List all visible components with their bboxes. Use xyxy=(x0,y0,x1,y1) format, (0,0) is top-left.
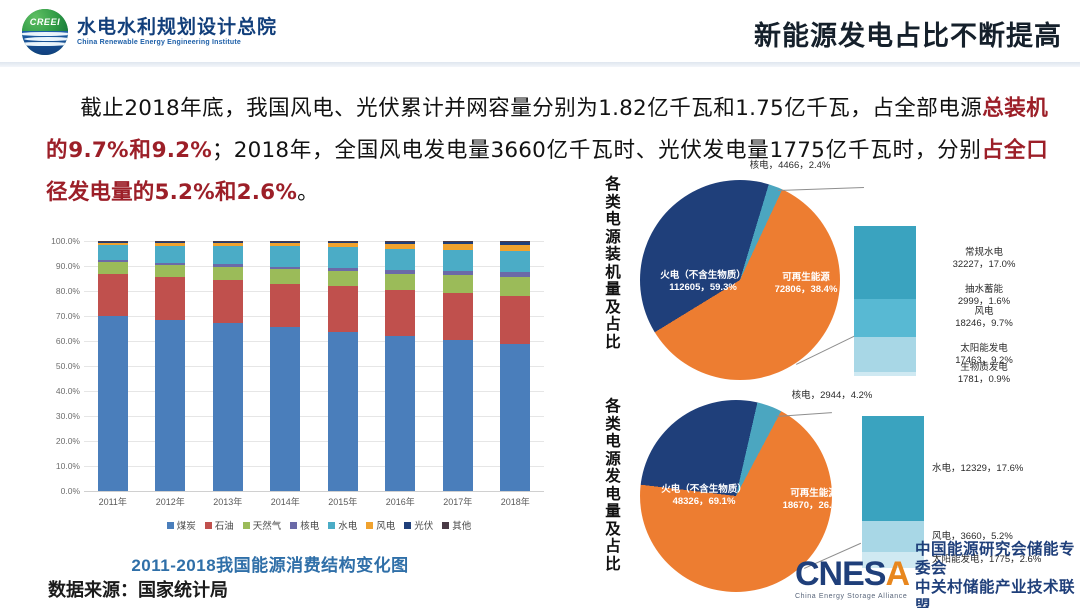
pie-slice-label-火电（不含生物质）: 火电（不含生物质）48326，69.1% xyxy=(644,484,764,508)
legend-swatch-icon xyxy=(404,522,411,529)
bar-segment-天然气 xyxy=(155,265,185,277)
breakout-segment-常规水电 xyxy=(854,226,916,294)
legend-label: 风电 xyxy=(376,518,395,532)
x-axis-tick-label: 2011年 xyxy=(91,495,135,511)
legend-label: 石油 xyxy=(215,518,234,532)
legend-label: 光伏 xyxy=(414,518,433,532)
pie-slice-label-可再生能源: 可再生能源18670，26.7% xyxy=(768,488,860,512)
bar-column[interactable] xyxy=(213,241,243,491)
y-axis-tick-label: 0.0% xyxy=(24,486,80,496)
bar-segment-煤炭 xyxy=(213,323,243,492)
cnesa-cn-block: 中国能源研究会储能专委会 中关村储能产业技术联盟 xyxy=(915,540,1080,608)
x-axis-tick-label: 2014年 xyxy=(263,495,307,511)
cnesa-logo: CNESA China Energy Storage Alliance xyxy=(795,557,909,600)
bar-segment-天然气 xyxy=(98,262,128,274)
x-axis-tick-label: 2012年 xyxy=(148,495,192,511)
breakout-segment-生物质发电 xyxy=(854,372,916,378)
bar-segment-水电 xyxy=(270,246,300,266)
legend-item-天然气[interactable]: 天然气 xyxy=(243,518,282,532)
x-axis-tick-label: 2013年 xyxy=(206,495,250,511)
breakout-label-常规水电: 常规水电32227，17.0% xyxy=(924,247,1044,271)
bar-segment-石油 xyxy=(213,280,243,323)
cnesa-cn-line-2: 中关村储能产业技术联盟 xyxy=(915,578,1080,608)
institute-name-cn: 水电水利规划设计总院 xyxy=(77,18,277,38)
pie-slice-label-可再生能源: 可再生能源72806，38.4% xyxy=(760,272,852,296)
x-axis-tick-label: 2018年 xyxy=(493,495,537,511)
bar-segment-水电 xyxy=(500,251,530,272)
breakout-box: 常规水电32227，17.0%抽水蓄能2999，1.6%风电18246，9.7%… xyxy=(854,226,916,376)
bar-column[interactable] xyxy=(385,241,415,491)
bar-segment-天然气 xyxy=(385,274,415,290)
bar-chart-plot xyxy=(84,241,544,491)
bar-segment-天然气 xyxy=(443,275,473,293)
x-axis-tick-label: 2017年 xyxy=(436,495,480,511)
y-axis-tick-label: 90.0% xyxy=(24,261,80,271)
y-axis-tick-label: 100.0% xyxy=(24,236,80,246)
legend-item-光伏[interactable]: 光伏 xyxy=(404,518,433,532)
legend-swatch-icon xyxy=(290,522,297,529)
bar-segment-煤炭 xyxy=(328,332,358,491)
legend-label: 煤炭 xyxy=(177,518,196,532)
cnesa-subtitle-en: China Energy Storage Alliance xyxy=(795,593,909,600)
x-axis-tick-label: 2016年 xyxy=(378,495,422,511)
bar-segment-天然气 xyxy=(270,269,300,283)
legend-swatch-icon xyxy=(442,522,449,529)
bar-segment-煤炭 xyxy=(155,320,185,491)
y-axis-tick-label: 20.0% xyxy=(24,436,80,446)
y-axis-tick-label: 10.0% xyxy=(24,461,80,471)
breakout-label-生物质发电: 生物质发电1781，0.9% xyxy=(924,362,1044,386)
paragraph-part-2: ；2018年，全国风电发电量3660亿千瓦时、光伏发电量1775亿千瓦时，分别 xyxy=(212,138,982,163)
leader-line xyxy=(778,187,864,191)
bar-chart-bars xyxy=(84,241,544,491)
bar-chart: 0.0%10.0%20.0%30.0%40.0%50.0%60.0%70.0%8… xyxy=(24,233,554,533)
header-divider xyxy=(0,62,1080,67)
legend-label: 核电 xyxy=(300,518,319,532)
bar-chart-legend: 煤炭石油天然气核电水电风电光伏其他 xyxy=(84,517,554,533)
bar-segment-水电 xyxy=(98,245,128,260)
cnesa-wordmark-accent: A xyxy=(885,555,909,593)
data-source-note: 数据来源：国家统计局 xyxy=(48,576,228,602)
legend-item-石油[interactable]: 石油 xyxy=(205,518,234,532)
bar-segment-煤炭 xyxy=(385,336,415,491)
bar-segment-石油 xyxy=(155,277,185,320)
bar-column[interactable] xyxy=(270,241,300,491)
breakout-segment-太阳能发电 xyxy=(854,337,916,375)
gridline xyxy=(84,491,544,492)
creei-badge-icon: CREEI xyxy=(22,9,68,55)
legend-item-煤炭[interactable]: 煤炭 xyxy=(167,518,196,532)
wave-line-1 xyxy=(22,32,68,36)
cnesa-cn-line-1: 中国能源研究会储能专委会 xyxy=(915,540,1080,578)
legend-label: 水电 xyxy=(338,518,357,532)
bar-segment-石油 xyxy=(328,286,358,332)
slide-header: CREEI 水电水利规划设计总院 China Renewable Energy … xyxy=(0,0,1080,62)
installed-capacity-chart: 各类电源装机量及占比火电（不含生物质）112605，59.3%可再生能源7280… xyxy=(600,168,1080,396)
y-axis-tick-label: 60.0% xyxy=(24,336,80,346)
slide-root: CREEI 水电水利规划设计总院 China Renewable Energy … xyxy=(0,0,1080,608)
bar-chart-title: 2011-2018我国能源消费结构变化图 xyxy=(60,551,480,576)
breakout-segment-风电 xyxy=(854,299,916,339)
wave-line-3 xyxy=(22,42,68,46)
bar-segment-天然气 xyxy=(500,277,530,297)
legend-label: 天然气 xyxy=(253,518,282,532)
y-axis-tick-label: 80.0% xyxy=(24,286,80,296)
badge-text: CREEI xyxy=(22,17,68,27)
legend-swatch-icon xyxy=(328,522,335,529)
paragraph-part-3: 。 xyxy=(297,180,319,205)
legend-item-水电[interactable]: 水电 xyxy=(328,518,357,532)
y-axis-tick-label: 40.0% xyxy=(24,386,80,396)
y-axis-tick-label: 70.0% xyxy=(24,311,80,321)
legend-swatch-icon xyxy=(205,522,212,529)
cnesa-wordmark-main: CNES xyxy=(795,555,885,593)
logo-text-block: 水电水利规划设计总院 China Renewable Energy Engine… xyxy=(77,18,277,47)
bar-segment-水电 xyxy=(155,246,185,264)
legend-item-核电[interactable]: 核电 xyxy=(290,518,319,532)
bar-segment-煤炭 xyxy=(443,340,473,491)
legend-swatch-icon xyxy=(366,522,373,529)
chart-vertical-label: 各类电源装机量及占比 xyxy=(600,176,626,351)
bar-segment-水电 xyxy=(213,246,243,264)
cnesa-wordmark: CNESA xyxy=(795,557,909,591)
pie-slice-label-核电: 核电，4466，2.4% xyxy=(730,160,850,172)
breakout-label-风电: 风电18246，9.7% xyxy=(924,306,1044,330)
breakout-label-抽水蓄能: 抽水蓄能2999，1.6% xyxy=(924,284,1044,308)
bar-segment-石油 xyxy=(443,293,473,340)
cnesa-watermark: CNESA China Energy Storage Alliance 中国能源… xyxy=(795,548,1080,608)
legend-label: 其他 xyxy=(452,518,471,532)
breakout-segment-水电 xyxy=(862,416,924,523)
pie-slice-label-核电: 核电，2944，4.2% xyxy=(772,390,892,402)
bar-segment-天然气 xyxy=(328,271,358,286)
institute-name-en: China Renewable Energy Engineering Insti… xyxy=(77,39,277,46)
bar-segment-水电 xyxy=(443,250,473,271)
bar-column[interactable] xyxy=(155,241,185,491)
bar-segment-煤炭 xyxy=(98,316,128,492)
bar-column[interactable] xyxy=(443,241,473,491)
pie-slice-label-火电（不含生物质）: 火电（不含生物质）112605，59.3% xyxy=(648,270,758,294)
bar-segment-石油 xyxy=(98,274,128,316)
bar-column[interactable] xyxy=(98,241,128,491)
legend-item-其他[interactable]: 其他 xyxy=(442,518,471,532)
bar-segment-石油 xyxy=(270,284,300,328)
x-axis-tick-label: 2015年 xyxy=(321,495,365,511)
bar-segment-水电 xyxy=(328,247,358,268)
legend-swatch-icon xyxy=(167,522,174,529)
y-axis-tick-label: 50.0% xyxy=(24,361,80,371)
breakout-label-水电: 水电，12329，17.6% xyxy=(932,463,1072,475)
bar-segment-煤炭 xyxy=(500,344,530,492)
bar-segment-煤炭 xyxy=(270,327,300,491)
paragraph-part-1: 截止2018年底，我国风电、光伏累计并网容量分别为1.82亿千瓦和1.75亿千瓦… xyxy=(80,96,982,121)
legend-swatch-icon xyxy=(243,522,250,529)
bar-chart-x-axis: 2011年2012年2013年2014年2015年2016年2017年2018年 xyxy=(84,495,544,511)
wave-line-2 xyxy=(24,37,68,41)
chart-vertical-label: 各类电源发电量及占比 xyxy=(600,398,626,573)
creei-logo: CREEI 水电水利规划设计总院 China Renewable Energy … xyxy=(22,9,277,55)
bar-column[interactable] xyxy=(500,241,530,491)
bar-segment-石油 xyxy=(385,290,415,336)
bar-segment-石油 xyxy=(500,296,530,343)
bar-column[interactable] xyxy=(328,241,358,491)
y-axis-tick-label: 30.0% xyxy=(24,411,80,421)
legend-item-风电[interactable]: 风电 xyxy=(366,518,395,532)
bar-segment-天然气 xyxy=(213,267,243,280)
bar-segment-水电 xyxy=(385,249,415,271)
page-title: 新能源发电占比不断提高 xyxy=(754,14,1062,53)
